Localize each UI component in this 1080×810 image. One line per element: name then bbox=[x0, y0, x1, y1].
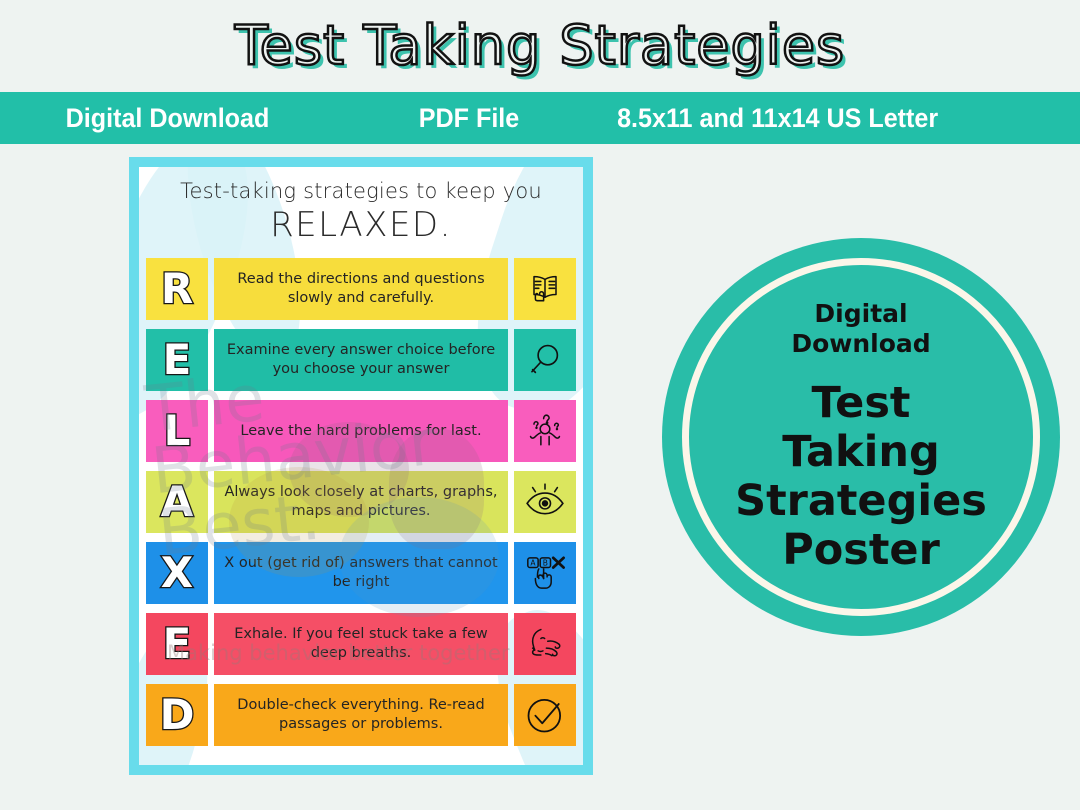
banner-item-digital-download: Digital Download bbox=[66, 103, 270, 134]
strategy-text-tile: Read the directions and questions slowly… bbox=[214, 258, 508, 320]
strategy-letter: D bbox=[160, 694, 195, 736]
strategy-row: EExhale. If you feel stuck take a few de… bbox=[146, 613, 576, 675]
strategy-text-tile: Exhale. If you feel stuck take a few dee… bbox=[214, 613, 508, 675]
strategy-letter: X bbox=[161, 552, 193, 594]
poster-heading-line2: RELAXED. bbox=[139, 205, 583, 245]
page-title: Test Taking Strategies bbox=[0, 10, 1080, 82]
poster-heading: Test-taking strategies to keep you RELAX… bbox=[139, 167, 583, 245]
strategy-letter-tile: X bbox=[146, 542, 208, 604]
strategy-text-tile: Double-check everything. Re-read passage… bbox=[214, 684, 508, 746]
poster-preview[interactable]: Test-taking strategies to keep you RELAX… bbox=[129, 157, 593, 775]
check-circle-icon bbox=[514, 684, 576, 746]
watermark-blob bbox=[339, 497, 499, 617]
svg-text:A: A bbox=[530, 558, 536, 567]
badge-content: Digital Download Test Taking Strategies … bbox=[696, 299, 1026, 575]
strategy-letter-tile: L bbox=[146, 400, 208, 462]
strategy-letter-tile: E bbox=[146, 329, 208, 391]
banner-item-pdf-file: PDF File bbox=[419, 103, 519, 134]
strategy-letter: R bbox=[161, 268, 193, 310]
shrug-person-icon bbox=[514, 400, 576, 462]
badge-kicker: Digital Download bbox=[696, 299, 1026, 359]
strategy-text-tile: Examine every answer choice before you c… bbox=[214, 329, 508, 391]
strategy-text: Exhale. If you feel stuck take a few dee… bbox=[222, 625, 500, 663]
strategy-letter: L bbox=[164, 410, 191, 452]
strategy-row: RRead the directions and questions slowl… bbox=[146, 258, 576, 320]
info-banner: Digital Download PDF File 8.5x11 and 11x… bbox=[0, 92, 1080, 144]
strategy-letter-tile: R bbox=[146, 258, 208, 320]
strategy-letter: E bbox=[163, 623, 192, 665]
open-book-icon bbox=[514, 258, 576, 320]
strategy-row: EExamine every answer choice before you … bbox=[146, 329, 576, 391]
eliminate-answer-icon: AB bbox=[514, 542, 576, 604]
strategy-text: Double-check everything. Re-read passage… bbox=[222, 696, 500, 734]
strategy-letter-tile: A bbox=[146, 471, 208, 533]
banner-item-sizes: 8.5x11 and 11x14 US Letter bbox=[617, 103, 938, 134]
strategy-text: Examine every answer choice before you c… bbox=[222, 341, 500, 379]
strategy-row: DDouble-check everything. Re-read passag… bbox=[146, 684, 576, 746]
badge-title: Test Taking Strategies Poster bbox=[696, 379, 1026, 575]
strategy-text: Read the directions and questions slowly… bbox=[222, 270, 500, 308]
strategy-letter: A bbox=[161, 481, 194, 523]
exhale-face-icon bbox=[514, 613, 576, 675]
strategy-letter: E bbox=[163, 339, 192, 381]
eye-icon bbox=[514, 471, 576, 533]
page-root: Test Taking Strategies Digital Download … bbox=[0, 0, 1080, 810]
product-badge[interactable]: Digital Download Test Taking Strategies … bbox=[662, 238, 1060, 636]
strategy-letter-tile: D bbox=[146, 684, 208, 746]
poster-heading-line1: Test-taking strategies to keep you bbox=[139, 179, 583, 203]
poster-canvas: Test-taking strategies to keep you RELAX… bbox=[139, 167, 583, 765]
svg-text:B: B bbox=[543, 558, 548, 567]
magnifier-icon bbox=[514, 329, 576, 391]
strategy-letter-tile: E bbox=[146, 613, 208, 675]
